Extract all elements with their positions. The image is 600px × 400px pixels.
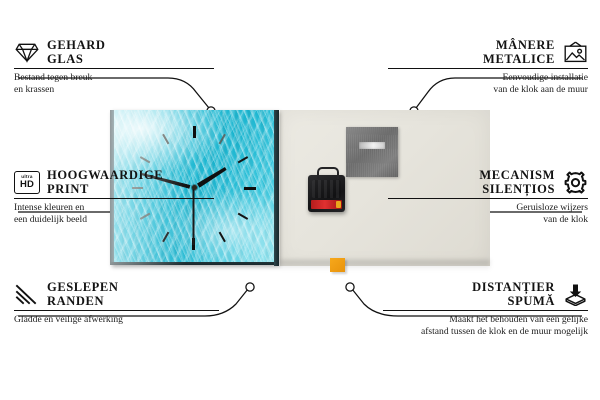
feature-mechanism: MECANISM SILENȚIOS Geruisloze wijzers va… (388, 168, 588, 226)
diamond-icon (14, 40, 40, 64)
feature-handles-title: MÂNERE METALICE (483, 38, 555, 66)
ultra-hd-badge-bottom: HD (20, 180, 34, 190)
feature-edges-rule (14, 310, 219, 311)
mechanism-body (312, 180, 341, 198)
feature-mechanism-header: MECANISM SILENȚIOS (388, 168, 588, 196)
feature-spacer-title: DISTANȚIER SPUMĂ (472, 280, 555, 308)
bevelled-edge-icon (14, 282, 40, 306)
feature-print-description: Intense kleuren en een duidelijk beeld (14, 202, 214, 226)
feature-print-rule (14, 198, 214, 199)
feature-glass-description: Bestand tegen breuk en krassen (14, 72, 214, 96)
feature-mechanism-title: MECANISM SILENȚIOS (479, 168, 555, 196)
feature-print-title: HOOGWAARDIGE PRINT (47, 168, 163, 196)
feature-edges: GESLEPEN RANDEN Gladde en veilige afwerk… (14, 280, 219, 326)
connector-dot-spacer (346, 283, 354, 291)
infographic-canvas: GEHARD GLAS Bestand tegen breuk en krass… (0, 0, 600, 400)
feature-edges-title: GESLEPEN RANDEN (47, 280, 119, 308)
clock-mechanism (308, 175, 345, 212)
feature-handles-description: Eenvoudige installatie van de klok aan d… (388, 72, 588, 96)
mechanism-battery (311, 200, 342, 209)
glass-panel-bottom-edge (110, 262, 278, 265)
feature-glass: GEHARD GLAS Bestand tegen breuk en krass… (14, 38, 214, 96)
feature-edges-description: Gladde en veilige afwerking (14, 314, 219, 326)
feature-handles-rule (388, 68, 588, 69)
feature-spacer-rule (383, 310, 588, 311)
feature-mechanism-description: Geruisloze wijzers van de klok (388, 202, 588, 226)
feature-handles-header: MÂNERE METALICE (388, 38, 588, 66)
feature-print-header: ultra HD HOOGWAARDIGE PRINT (14, 168, 214, 196)
feature-glass-title: GEHARD GLAS (47, 38, 105, 66)
glass-panel-right-edge (274, 110, 279, 266)
ultra-hd-badge-icon: ultra HD (14, 170, 40, 194)
feature-glass-header: GEHARD GLAS (14, 38, 214, 66)
feature-print: ultra HD HOOGWAARDIGE PRINT Intense kleu… (14, 168, 214, 226)
foam-spacer (330, 258, 345, 272)
feature-spacer: DISTANȚIER SPUMĂ Maakt het behouden van … (383, 280, 588, 338)
gear-icon (562, 170, 588, 194)
download-layer-icon (562, 282, 588, 306)
connector-dot-edges (246, 283, 254, 291)
feature-glass-rule (14, 68, 214, 69)
feature-edges-header: GESLEPEN RANDEN (14, 280, 219, 308)
feature-spacer-description: Maakt het behouden van een gelijke afsta… (383, 314, 588, 338)
wall-panel-shadow (280, 260, 490, 270)
mechanism-hanger-hook (317, 167, 339, 179)
feature-spacer-header: DISTANȚIER SPUMĂ (383, 280, 588, 308)
feature-handles: MÂNERE METALICE Eenvoudige installatie v… (388, 38, 588, 96)
feature-mechanism-rule (388, 198, 588, 199)
picture-frame-icon (562, 40, 588, 64)
